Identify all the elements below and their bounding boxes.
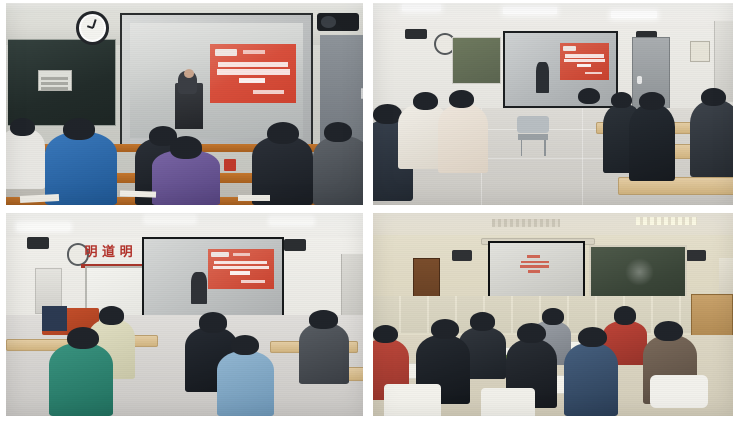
attendee-head [373, 325, 398, 343]
slide-date-line [241, 280, 265, 283]
attendee-head [67, 327, 99, 349]
attendee-cream-puffer-2 [438, 104, 488, 173]
photo-top-left [6, 3, 363, 205]
ceiling-light [145, 215, 195, 221]
slide-title-line-3 [239, 78, 265, 83]
photo-collage: 明 道 明 [0, 0, 750, 422]
photo-top-right [373, 3, 733, 205]
attendee-head [578, 327, 607, 347]
attendee-head [449, 90, 474, 108]
wall-speaker-icon [686, 250, 706, 261]
white-bag [650, 375, 708, 407]
navy-panel [42, 306, 67, 330]
slide-date-line [585, 72, 603, 75]
collage-cell-top-left [0, 0, 368, 207]
projection-screen-frame [503, 31, 618, 108]
projection-screen [144, 239, 283, 316]
presentation-slide [560, 43, 609, 79]
door-handle [637, 76, 642, 84]
ceiling-light [17, 223, 71, 229]
slide-logo-subtext [243, 50, 266, 55]
speaker-head [184, 69, 194, 78]
slide-title-line-1 [218, 62, 287, 67]
slide-title-line-1 [565, 54, 604, 57]
photo-bottom-right [373, 213, 733, 416]
attendee-head [654, 321, 683, 341]
attendee-head [470, 312, 495, 330]
speaker-figure [191, 272, 208, 304]
slide-title-line-3 [230, 271, 250, 275]
attendee-green-sweater [49, 343, 113, 416]
attendee-head [517, 323, 546, 343]
attendee-head [413, 92, 438, 110]
door-handle [361, 88, 362, 99]
collage-cell-bottom-left: 明 道 明 [0, 207, 368, 422]
attendee-head [578, 88, 600, 104]
wall-banner-text: 明 道 明 [85, 246, 133, 259]
slide-logo-icon [527, 255, 540, 258]
empty-chair [517, 116, 549, 156]
wall-speaker-icon [405, 29, 427, 39]
chair-leg [521, 140, 522, 157]
notebook [238, 195, 270, 201]
chalkboard-notice [38, 70, 72, 91]
ceiling-strip [6, 3, 363, 13]
speaker-figure [536, 62, 549, 93]
attendee-head [542, 308, 564, 324]
presentation-slide [210, 44, 297, 104]
attendee-head [701, 88, 726, 106]
slide-logo-icon [215, 49, 238, 56]
attendee-head [611, 92, 633, 108]
wall-speaker-icon [284, 239, 305, 250]
attendee-head [199, 312, 228, 332]
attendee-head [431, 319, 460, 339]
slide-title-line-3 [577, 64, 592, 67]
ceiling-camera-icon [317, 13, 360, 31]
attendee-white-far-left [6, 128, 45, 189]
slide-title-line-1 [214, 261, 267, 265]
attendee-head [639, 92, 664, 110]
slide-title-line-1 [521, 261, 549, 264]
slide-title-line-2 [213, 266, 269, 270]
attendee-head [267, 122, 299, 144]
collage-cell-top-right [368, 0, 750, 207]
attendee-head [309, 310, 338, 328]
attendee-head [614, 306, 636, 324]
chair-back [517, 116, 549, 133]
presentation-slide [518, 254, 555, 282]
attendee-blue-center [564, 343, 618, 416]
ceiling-lamp [636, 217, 697, 225]
attendee-grey-far-right [313, 136, 363, 205]
attendee-masked-far-right [690, 100, 733, 177]
white-chair-back [384, 384, 442, 416]
projection-screen-frame [142, 237, 285, 318]
small-green-board [452, 37, 501, 83]
attendee-grey-far-right [299, 323, 349, 384]
wall-speaker-icon [27, 237, 48, 248]
ceiling-light [270, 217, 313, 223]
wall-speaker-icon [452, 250, 472, 261]
wall-notice [690, 41, 710, 61]
attendee-head [324, 122, 353, 142]
slide-logo-subtext [233, 253, 250, 256]
attendee-light-blue [217, 351, 274, 416]
ceiling-light [503, 7, 557, 14]
attendee-blue-center [571, 100, 607, 169]
projection-screen [490, 243, 583, 304]
projected-video-feed [130, 23, 304, 138]
attendee-head [99, 306, 124, 324]
slide-title-line-3 [528, 270, 541, 273]
air-conditioner [719, 258, 733, 299]
notebook [120, 190, 156, 198]
red-cup [224, 159, 236, 171]
slide-date-line [253, 90, 284, 94]
slide-logo-icon [563, 46, 576, 50]
slide-title-line-2 [520, 265, 549, 268]
chalkboard-glare [625, 258, 654, 286]
attendee-dark-right-2 [629, 104, 676, 181]
wall-clock-icon [76, 11, 109, 44]
slide-title-line-2 [564, 59, 605, 62]
ceiling-light [402, 4, 442, 11]
slide-title-line-2 [217, 69, 290, 74]
attendee-head [10, 118, 35, 136]
white-chair-back [481, 388, 535, 416]
attendee-head [231, 335, 260, 355]
chalkboard [8, 39, 116, 126]
collage-cell-bottom-right [368, 207, 750, 422]
chair-leg [544, 140, 545, 157]
attendee-purple-jacket [152, 150, 220, 205]
attendee-head [170, 136, 202, 158]
ceiling-light [611, 11, 658, 18]
slide-logo-icon [211, 252, 228, 257]
ceiling-vent [492, 219, 560, 227]
attendee-head [63, 118, 95, 140]
photo-bottom-left: 明 道 明 [6, 213, 363, 416]
presentation-slide [208, 249, 275, 289]
